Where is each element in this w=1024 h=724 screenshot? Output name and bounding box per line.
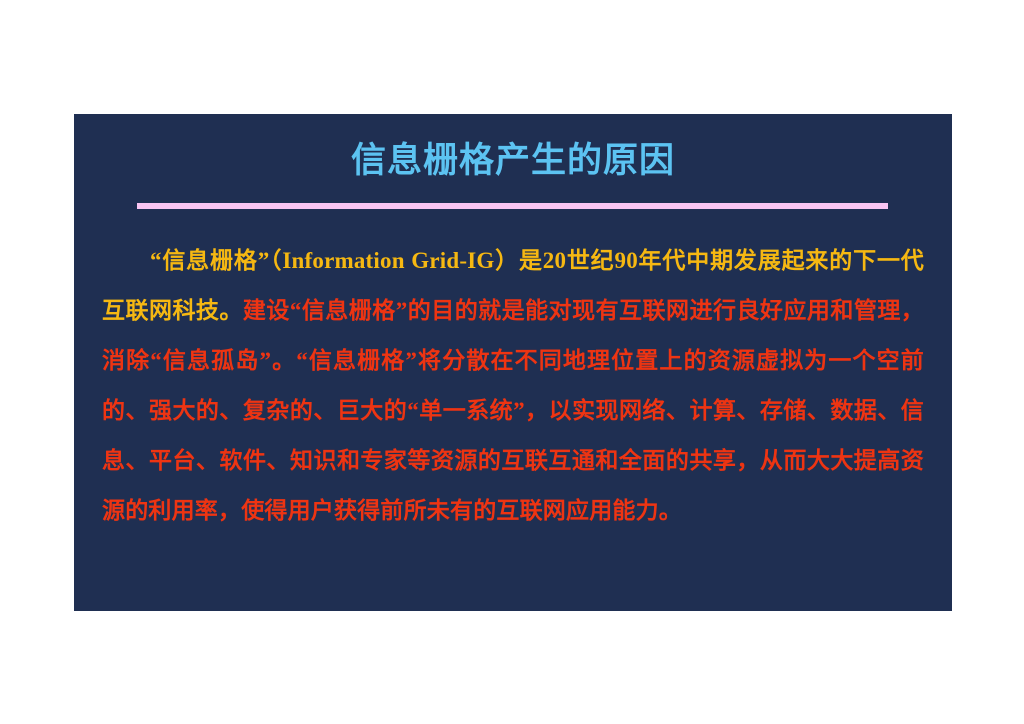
- body-segment-red: 建设“信息栅格”的目的就是能对现有互联网进行良好应用和管理，消除“信息孤岛”。“…: [102, 298, 924, 523]
- slide-body-text: “信息栅格”（Information Grid-IG）是20世纪90年代中期发展…: [102, 236, 924, 536]
- slide-panel: 信息栅格产生的原因 “信息栅格”（Information Grid-IG）是20…: [74, 114, 952, 611]
- slide-title: 信息栅格产生的原因: [74, 142, 952, 181]
- title-divider-rule: [137, 203, 888, 209]
- slide-page: 信息栅格产生的原因 “信息栅格”（Information Grid-IG）是20…: [0, 0, 1024, 724]
- body-paragraph: “信息栅格”（Information Grid-IG）是20世纪90年代中期发展…: [102, 236, 924, 536]
